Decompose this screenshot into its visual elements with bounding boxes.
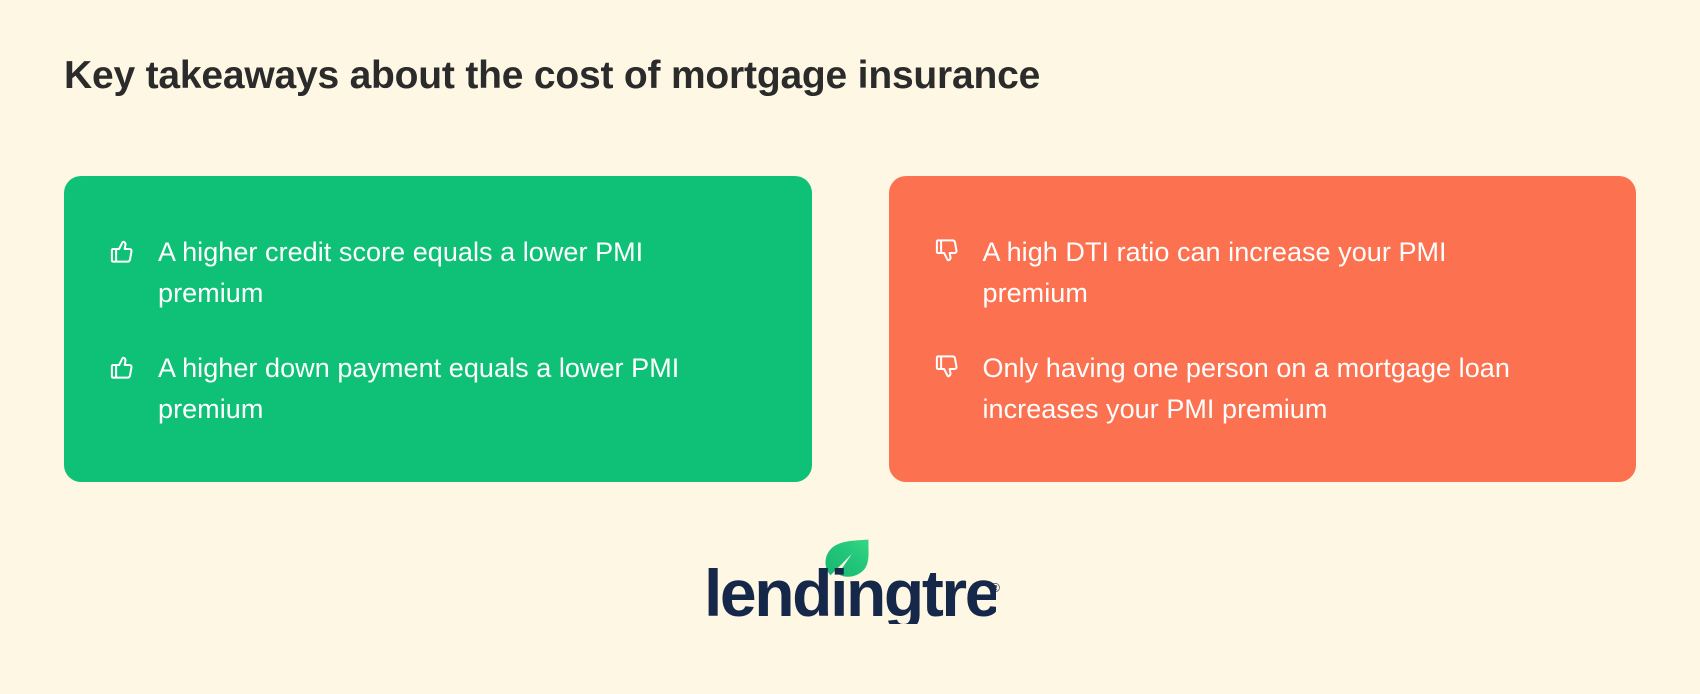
- pros-card: A higher credit score equals a lower PMI…: [64, 176, 812, 482]
- registered-trademark-symbol: ®: [990, 581, 1000, 594]
- logo-wordmark: lendingtree: [703, 624, 704, 625]
- takeaways-cards-row: A higher credit score equals a lower PMI…: [64, 176, 1636, 482]
- list-item: A high DTI ratio can increase your PMI p…: [933, 232, 1593, 314]
- infographic-root: Key takeaways about the cost of mortgage…: [0, 0, 1700, 694]
- list-item-label: A higher down payment equals a lower PMI…: [158, 348, 698, 430]
- thumbs-down-icon: [933, 352, 963, 382]
- thumbs-up-icon: [108, 352, 138, 382]
- cons-card: A high DTI ratio can increase your PMI p…: [889, 176, 1637, 482]
- list-item-label: Only having one person on a mortgage loa…: [983, 348, 1523, 430]
- list-item: A higher credit score equals a lower PMI…: [108, 232, 768, 314]
- list-item-label: A high DTI ratio can increase your PMI p…: [983, 232, 1523, 314]
- thumbs-up-icon: [108, 236, 138, 266]
- brand-logo: lendingtree ® lendingtree: [0, 538, 1700, 624]
- list-item-label: A higher credit score equals a lower PMI…: [158, 232, 698, 314]
- logo-wordmark-text: lendingtree: [704, 556, 996, 624]
- list-item: Only having one person on a mortgage loa…: [933, 348, 1593, 430]
- page-title: Key takeaways about the cost of mortgage…: [64, 52, 1040, 100]
- thumbs-down-icon: [933, 236, 963, 266]
- lendingtree-logo-svg: lendingtree: [704, 538, 996, 624]
- list-item: A higher down payment equals a lower PMI…: [108, 348, 768, 430]
